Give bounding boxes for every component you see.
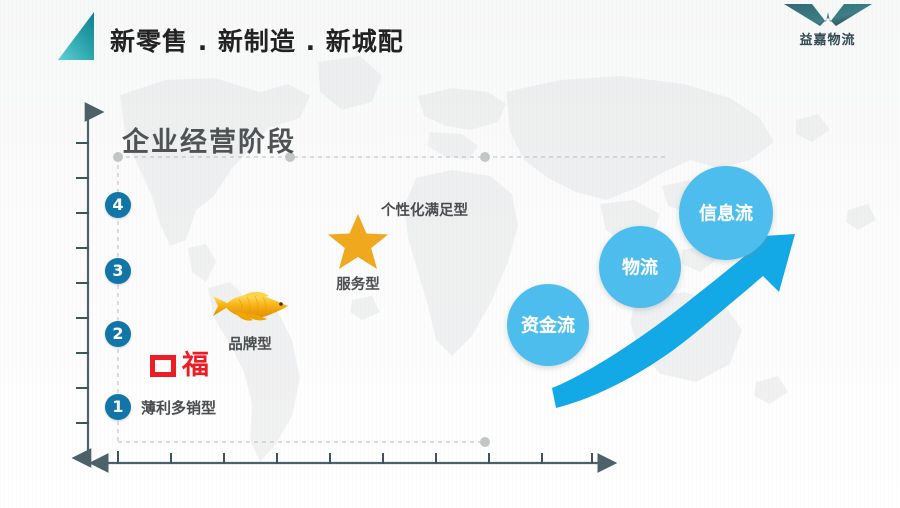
flow-diagram: 资金流 物流 信息流: [0, 0, 900, 508]
flow-label-information: 信息流: [699, 203, 753, 225]
slide-canvas: 新零售 . 新制造 . 新城配 益嘉物流: [0, 0, 900, 508]
flow-circle-information[interactable]: 信息流: [679, 166, 773, 260]
flow-circle-capital[interactable]: 资金流: [507, 284, 589, 366]
flow-label-logistics: 物流: [622, 257, 658, 279]
flow-label-capital: 资金流: [521, 315, 575, 337]
flow-circle-logistics[interactable]: 物流: [599, 226, 681, 308]
